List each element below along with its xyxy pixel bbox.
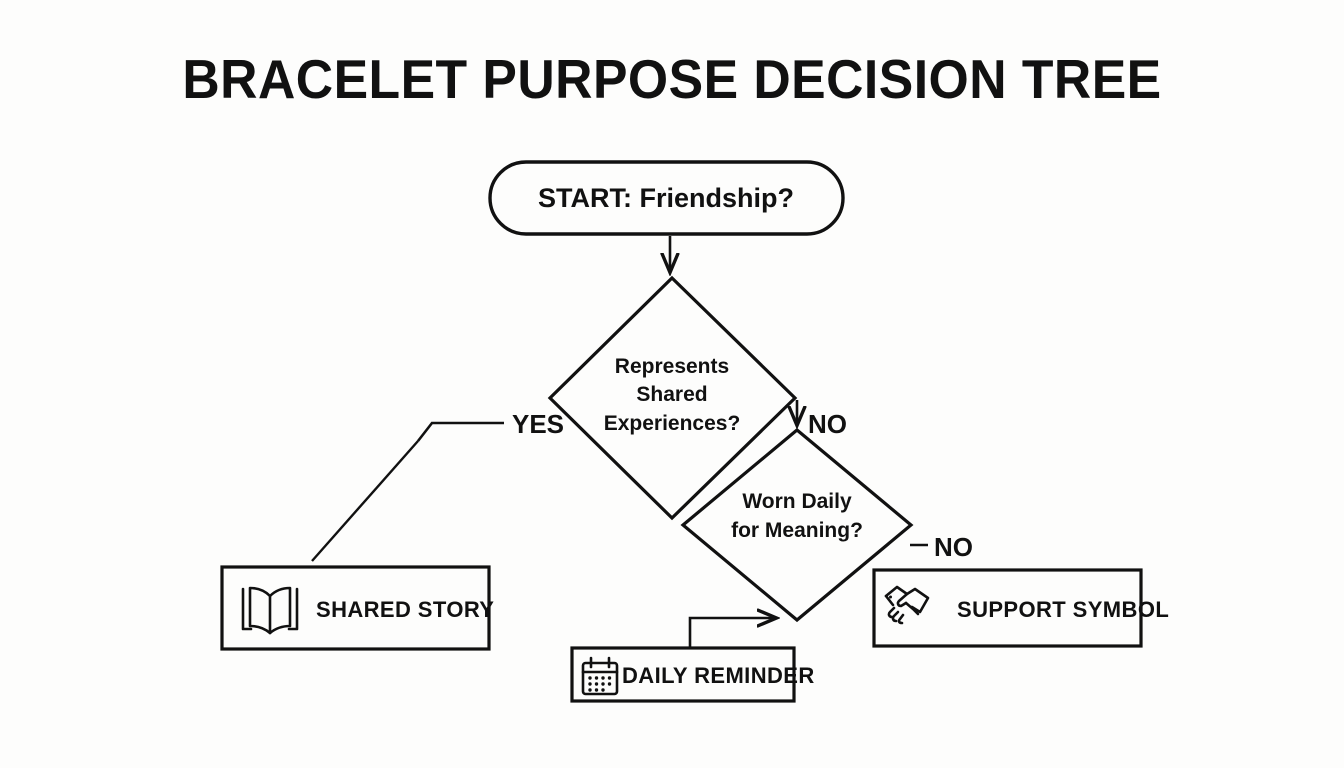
diagram-canvas: BRACELET PURPOSE DECISION TREE START: Fr… — [0, 0, 1344, 768]
start-node[interactable]: START: Friendship? — [490, 162, 843, 234]
outcome-daily-reminder-label: DAILY REMINDER — [622, 663, 815, 688]
edge-daily-reminder-to-decision2 — [690, 618, 776, 648]
open-book-icon — [243, 588, 297, 633]
decision-shared-experiences-label-line-3: Experiences? — [604, 412, 741, 435]
decision-shared-experiences-label-line-2: Shared — [636, 383, 707, 406]
outcome-daily-reminder[interactable]: DAILY REMINDER — [572, 648, 815, 701]
edge-yes-to-shared-story — [312, 441, 418, 561]
edge-yes-stub — [418, 423, 504, 441]
outcome-shared-story[interactable]: SHARED STORY — [222, 567, 494, 649]
outcome-support-symbol-label: SUPPORT SYMBOL — [957, 597, 1169, 622]
edge-label-yes: YES — [512, 409, 564, 439]
decision-shared-experiences-label-line-1: Represents — [615, 355, 729, 378]
decision-tree-svg: START: Friendship? Represents Shared Exp… — [0, 0, 1344, 768]
start-node-label: START: Friendship? — [538, 183, 794, 213]
decision-worn-daily-label-line-2: for Meaning? — [731, 519, 863, 542]
edge-label-no-second: NO — [934, 532, 973, 562]
decision-worn-daily-label-line-1: Worn Daily — [742, 490, 852, 513]
outcome-support-symbol[interactable]: SUPPORT SYMBOL — [874, 570, 1169, 646]
outcome-shared-story-label: SHARED STORY — [316, 597, 494, 622]
edge-label-no-first: NO — [808, 409, 847, 439]
